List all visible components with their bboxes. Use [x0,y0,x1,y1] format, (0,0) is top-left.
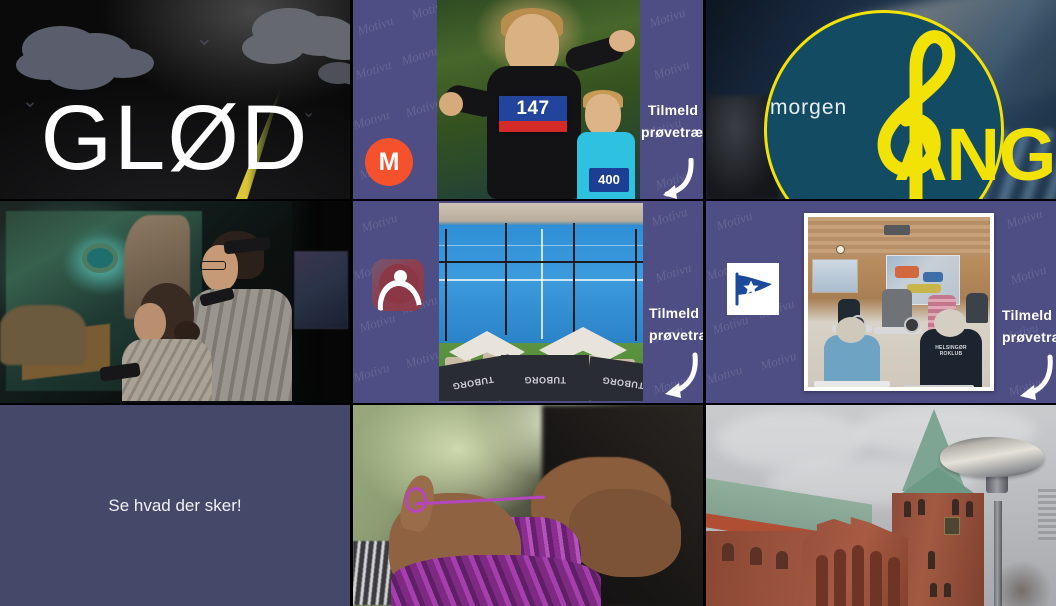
cloud-icon [318,62,350,84]
events-cta-label: Se hvad der sker! [108,496,241,516]
promo-cta-line2: prøvetræning [1002,327,1056,349]
club-name: HELSINGØR ROKLUB [922,345,980,358]
morgensang-main-text: ANG [894,118,1055,192]
arrow-curve-down-left-icon [653,351,701,399]
bird-icon: ⌄ [195,28,213,50]
promo-cta: Tilmeld prøvetræning [649,303,703,346]
glod-logo-tile[interactable]: ⌄ ⌄ ⌄ GLØD [0,0,350,199]
glod-logo-text: GLØD [0,92,350,184]
tower-clock [944,517,960,535]
hand [569,489,681,577]
athletics-promo-tile[interactable]: Motivu Motivu Motivu Motivu Motivu Motiv… [353,0,703,199]
umbrella-brand-label: TUBORG [584,356,643,401]
events-cta-tile[interactable]: Se hvad der sker! [0,405,350,606]
bib-number: 147 [499,96,567,121]
street-lamp-neck [986,475,1008,493]
rower-head [934,309,966,337]
rower-head [836,317,866,343]
church-tile[interactable] [706,405,1056,606]
street-lamp-head [940,437,1044,477]
exhibit-rock [0,305,86,365]
promo-cta-line2: prøvetræning [641,122,703,144]
padel-promo-tile[interactable]: Motivu Motivu Motivu Motivu Motivu Motiv… [353,201,703,403]
image-grid: ⌄ ⌄ ⌄ GLØD Motivu Motivu Motivu Motivu M… [0,0,1056,606]
promo-cta-line2: prøvetræning [649,325,703,347]
bib-number-badge: 147 [499,96,567,132]
m-circle-logo-icon[interactable]: M [365,138,413,186]
arrow-curve-down-left-icon [651,158,695,199]
cloud-icon [22,26,100,72]
rowing-promo-tile[interactable]: Motivu Motivu Motivu Motivu Motivu Motiv… [706,201,1056,403]
scaffold-mast [1038,489,1056,541]
exhibit-display-case [294,251,348,329]
yarn-fabric [391,555,601,606]
museum-exhibition-tile[interactable] [0,201,350,403]
rowing-photo: HELSINGØR ROKLUB [804,213,994,391]
promo-cta-line1: Tilmeld [1002,305,1056,327]
yarn-loop [405,487,427,513]
promo-cta: Tilmeld prøvetræning [641,100,703,143]
promo-cta-line1: Tilmeld [641,100,703,122]
arrow-curve-down-left-icon [1008,353,1056,401]
padel-photo: TUBORG TUBORG TUBORG [439,203,643,401]
pennant-flag-logo-icon[interactable] [727,263,779,315]
visitor-figure [120,283,212,401]
clock-icon [836,245,845,254]
porthole-light [82,243,118,273]
athletics-photo: 400 147 [437,0,640,199]
promo-cta: Tilmeld prøvetræning [1002,305,1056,348]
bare-tree [1000,554,1054,606]
morgensang-logo-tile[interactable]: morgen ANG [706,0,1056,199]
morgensang-prefix-text: morgen [770,96,847,120]
cloud-icon [252,8,326,52]
running-figure-logo-icon[interactable] [372,259,424,311]
promo-cta-line1: Tilmeld [649,303,703,325]
bib-number-secondary: 400 [589,168,629,192]
crochet-tile[interactable] [353,405,703,606]
projector-icon [884,225,910,235]
glasses-icon [200,261,226,270]
umbrella-brand-label: TUBORG [501,355,589,401]
